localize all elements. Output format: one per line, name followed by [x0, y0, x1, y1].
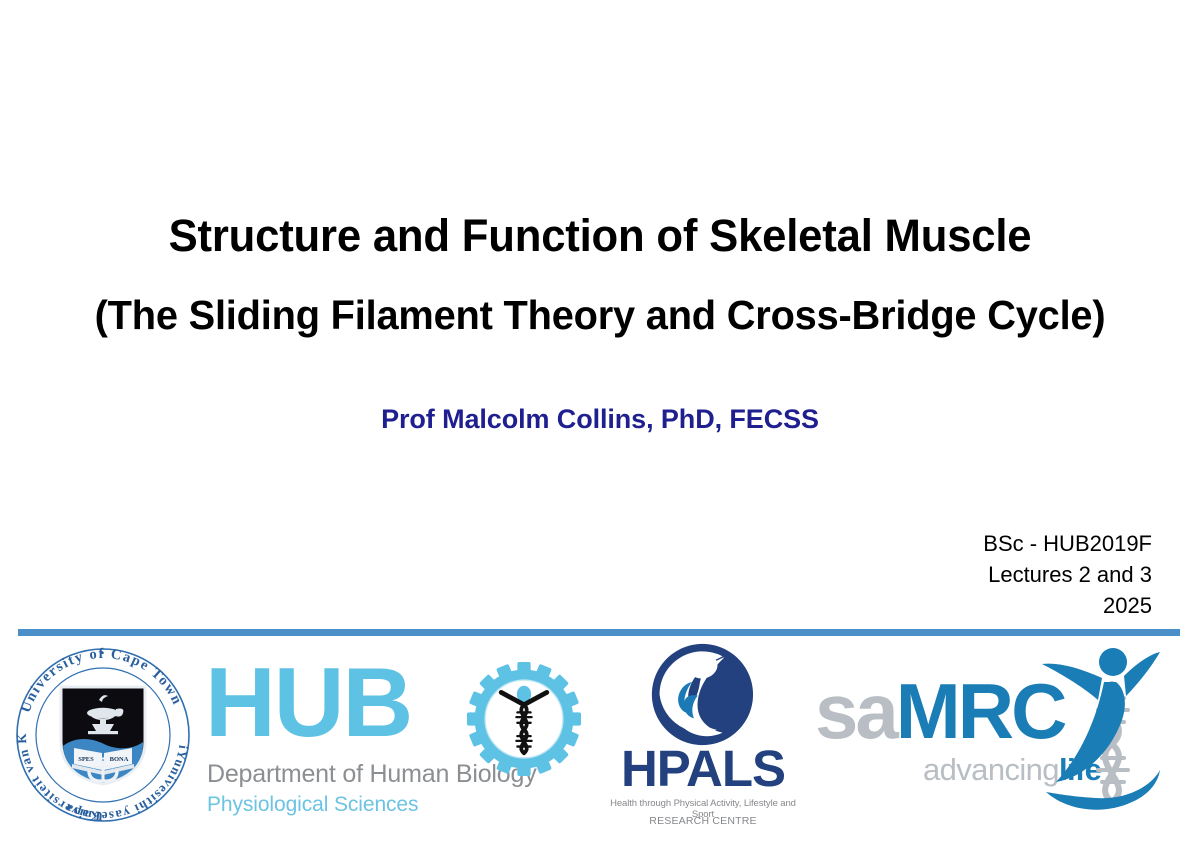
logo-strip: University of Cape Town iYunivesithi yas…: [0, 638, 1200, 848]
page-title: Structure and Function of Skeletal Muscl…: [18, 205, 1182, 267]
hub-logo: HUB Department of Human Biology Physiolo…: [205, 656, 585, 816]
uct-logo: University of Cape Town iYunivesithi yas…: [8, 640, 198, 830]
svg-text:SPES: SPES: [78, 756, 94, 763]
samrc-tagline-advancing: advancing: [923, 752, 1059, 787]
lecture-numbers: Lectures 2 and 3: [983, 559, 1152, 590]
samrc-wordmark: saMRC: [815, 670, 1064, 752]
hpals-figure-circle-icon: [650, 642, 755, 747]
title-block: Structure and Function of Skeletal Muscl…: [0, 205, 1200, 345]
course-year: 2025: [983, 590, 1152, 621]
course-code: BSc - HUB2019F: [983, 528, 1152, 559]
hub-wordmark: HUB: [205, 652, 411, 752]
author-name: Prof Malcolm Collins, PhD, FECSS: [0, 404, 1200, 435]
horizontal-divider: [18, 629, 1180, 636]
samrc-logo: saMRC advancinglife: [815, 652, 1155, 822]
svg-text:·: ·: [101, 645, 106, 662]
hpals-logo: HPALS Health through Physical Activity, …: [598, 642, 808, 837]
samrc-wordmark-sa: sa: [815, 667, 896, 755]
presentation-title-slide: Structure and Function of Skeletal Muscl…: [0, 0, 1200, 848]
hpals-wordmark: HPALS: [598, 742, 808, 796]
page-subtitle: (The Sliding Filament Theory and Cross-B…: [18, 285, 1182, 345]
uct-shield: SPES BONA: [58, 684, 148, 787]
hpals-descriptor: RESEARCH CENTRE: [598, 815, 808, 827]
gear-human-dna-icon: [467, 662, 581, 776]
human-dna-helix-icon: [1040, 642, 1160, 814]
course-info-block: BSc - HUB2019F Lectures 2 and 3 2025: [983, 528, 1152, 621]
hub-division: Physiological Sciences: [207, 793, 418, 817]
svg-text:BONA: BONA: [110, 756, 129, 763]
uct-shield-icon: SPES BONA: [58, 684, 148, 787]
